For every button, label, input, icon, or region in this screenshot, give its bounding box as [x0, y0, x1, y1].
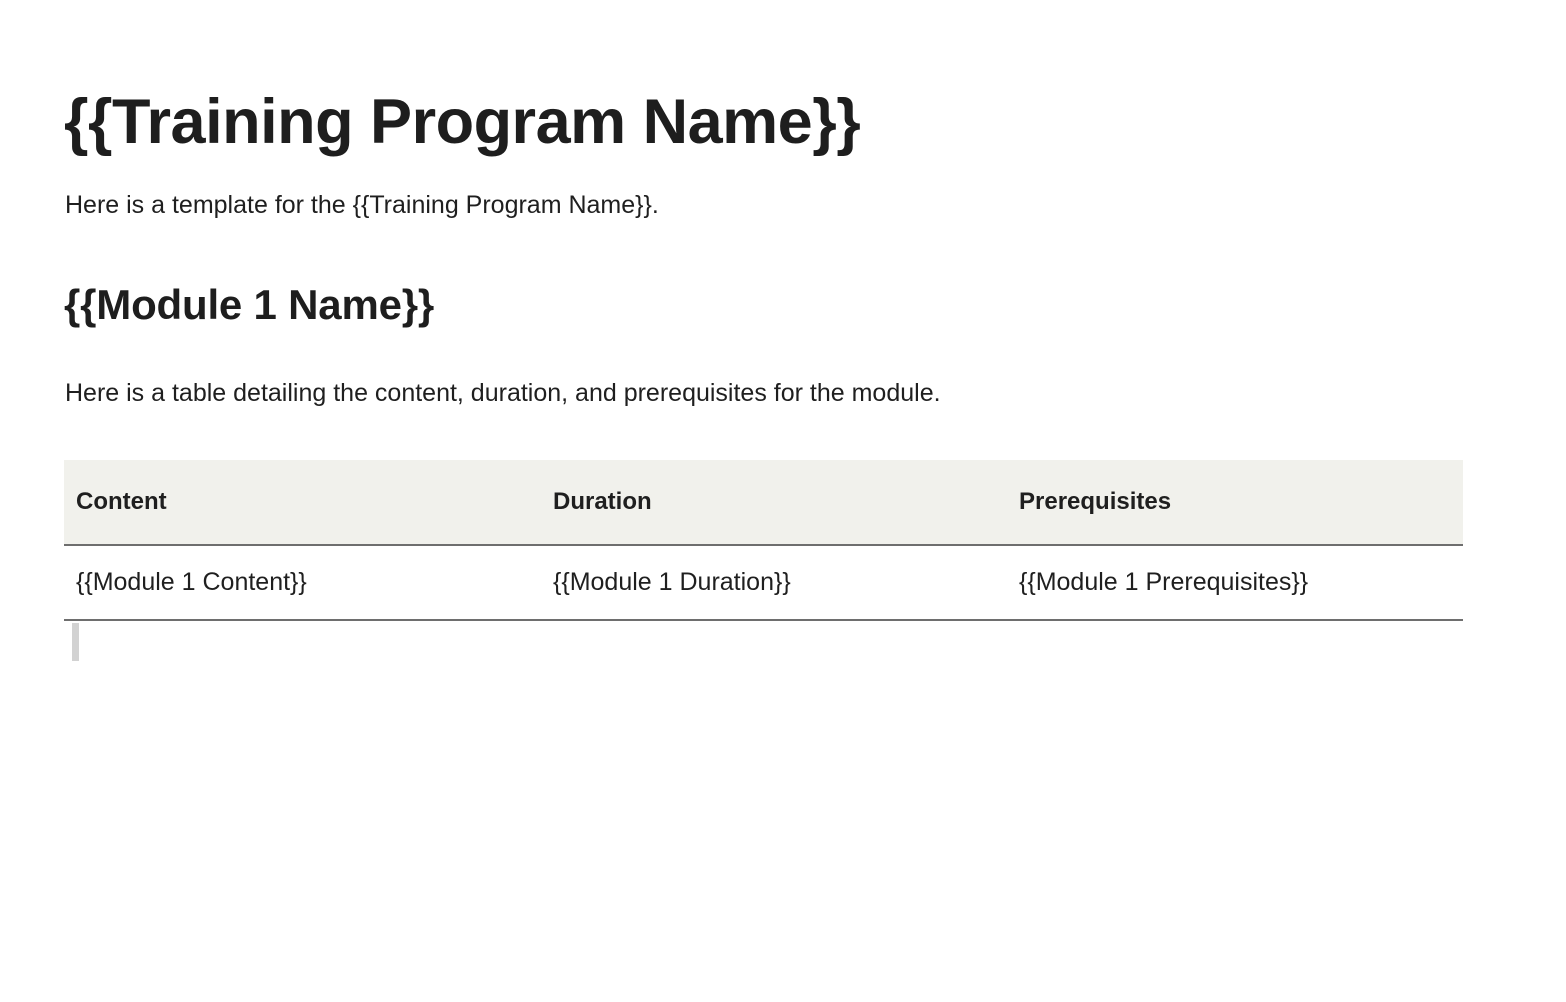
table-header: Content Duration Prerequisites [64, 460, 1463, 545]
cell-module-prerequisites[interactable]: {{Module 1 Prerequisites}} [1007, 545, 1463, 620]
column-header-content[interactable]: Content [64, 460, 541, 545]
document-body: {{Training Program Name}} Here is a temp… [64, 0, 1466, 669]
column-header-prerequisites[interactable]: Prerequisites [1007, 460, 1463, 545]
module-table-container: Content Duration Prerequisites {{Module … [64, 413, 1463, 669]
module-table: Content Duration Prerequisites {{Module … [64, 460, 1463, 621]
module-description-paragraph: Here is a table detailing the content, d… [64, 330, 1466, 413]
page-title: {{Training Program Name}} [64, 0, 1466, 158]
module-heading: {{Module 1 Name}} [64, 225, 1466, 330]
column-header-duration[interactable]: Duration [541, 460, 1007, 545]
below-table-line[interactable] [64, 621, 1463, 669]
cell-module-duration[interactable]: {{Module 1 Duration}} [541, 545, 1007, 620]
document-page: {{Training Program Name}} Here is a temp… [0, 0, 1566, 1002]
text-cursor-icon [72, 623, 79, 661]
intro-paragraph: Here is a template for the {{Training Pr… [64, 158, 1466, 225]
cell-module-content[interactable]: {{Module 1 Content}} [64, 545, 541, 620]
table-header-row: Content Duration Prerequisites [64, 460, 1463, 545]
table-row: {{Module 1 Content}} {{Module 1 Duration… [64, 545, 1463, 620]
table-body: {{Module 1 Content}} {{Module 1 Duration… [64, 545, 1463, 620]
